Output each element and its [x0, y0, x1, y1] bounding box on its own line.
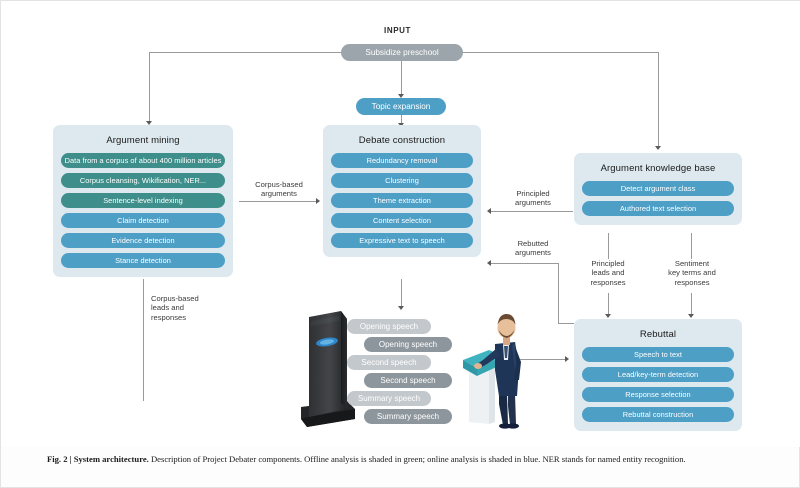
panel-argument-mining: Argument mining Data from a corpus of ab…	[53, 125, 233, 277]
edge-label-corpus-based-arguments: Corpus-based arguments	[239, 180, 319, 199]
arrow-corpus-arguments	[316, 198, 320, 204]
edge-line-2: arguments	[493, 248, 573, 257]
speech-chip-human-second: Second speech	[364, 373, 452, 388]
edge-line-3: responses	[568, 278, 648, 287]
edge-line-1: Rebutted	[493, 239, 573, 248]
arrow-principled-leads	[605, 314, 611, 318]
arrow-to-knowledge-base	[655, 146, 661, 150]
sentiment-terms-line-top	[691, 233, 692, 259]
human-debater-at-lectern	[463, 306, 533, 431]
edge-line-2: key terms and	[651, 268, 733, 277]
system-architecture-diagram: INPUT Subsidize preschool Topic expansio…	[1, 1, 800, 447]
chip-corpus-cleansing: Corpus cleansing, Wikification, NER...	[61, 173, 225, 188]
principled-leads-line-bottom	[608, 293, 609, 315]
chip-sentence-level-indexing: Sentence-level indexing	[61, 193, 225, 208]
chip-response-selection: Response selection	[582, 387, 734, 402]
edge-label-rebutted-arguments: Rebutted arguments	[493, 239, 573, 258]
edge-line-1: Sentiment	[651, 259, 733, 268]
input-label: INPUT	[384, 26, 411, 35]
arrow-rebutted-arguments	[487, 260, 491, 266]
rebutted-arguments-stub	[558, 323, 574, 324]
topic-right-drop	[658, 52, 659, 147]
edge-line-2: leads and	[568, 268, 648, 277]
arrow-sentiment-terms	[688, 314, 694, 318]
chip-expressive-text-to-speech: Expressive text to speech	[331, 233, 473, 248]
topic-box: Subsidize preschool	[341, 44, 463, 61]
chip-rebuttal-construction: Rebuttal construction	[582, 407, 734, 422]
chip-clustering: Clustering	[331, 173, 473, 188]
edge-label-principled-leads-responses: Principled leads and responses	[568, 259, 648, 287]
chip-content-selection: Content selection	[331, 213, 473, 228]
speech-chip-machine-second: Second speech	[347, 355, 431, 370]
edge-line-3: responses	[151, 313, 233, 322]
panel-rebuttal: Rebuttal Speech to text Lead/key-term de…	[574, 319, 742, 431]
caption-figure-number: Fig. 2 |	[47, 454, 74, 464]
panel-title-argument-mining: Argument mining	[61, 135, 225, 146]
chip-theme-extraction: Theme extraction	[331, 193, 473, 208]
topic-right-bus	[463, 52, 659, 53]
chip-evidence-detection: Evidence detection	[61, 233, 225, 248]
panel-title-argument-knowledge-base: Argument knowledge base	[582, 163, 734, 174]
edge-line-1: Corpus-based	[239, 180, 319, 189]
topic-to-expansion-line	[401, 61, 402, 95]
arrow-human-to-rebuttal	[565, 356, 569, 362]
edge-line-3: responses	[651, 278, 733, 287]
principled-arguments-line	[491, 211, 573, 212]
chip-lead-key-term-detection: Lead/key-term detection	[582, 367, 734, 382]
rebutted-arguments-line	[491, 263, 559, 264]
topic-left-bus	[149, 52, 341, 53]
topic-expansion-box: Topic expansion	[356, 98, 446, 115]
chip-claim-detection: Claim detection	[61, 213, 225, 228]
edge-line-1: Principled	[493, 189, 573, 198]
chip-stance-detection: Stance detection	[61, 253, 225, 268]
speech-chip-machine-opening: Opening speech	[347, 319, 431, 334]
debate-to-speech-line	[401, 279, 402, 307]
edge-line-1: Principled	[568, 259, 648, 268]
panel-title-rebuttal: Rebuttal	[582, 329, 734, 340]
edge-label-corpus-based-leads-responses: Corpus-based leads and responses	[151, 294, 233, 322]
edge-label-principled-arguments: Principled arguments	[493, 189, 573, 208]
arrow-to-speeches	[398, 306, 404, 310]
corpus-leads-line	[143, 279, 144, 401]
panel-argument-knowledge-base: Argument knowledge base Detect argument …	[574, 153, 742, 225]
figure-caption: Fig. 2 | System architecture. Descriptio…	[47, 453, 763, 465]
chip-speech-to-text: Speech to text	[582, 347, 734, 362]
edge-line-1: Corpus-based	[151, 294, 233, 303]
principled-leads-line-top	[608, 233, 609, 259]
caption-body: Description of Project Debater component…	[149, 454, 686, 464]
caption-title: System architecture.	[74, 454, 149, 464]
speech-chip-human-opening: Opening speech	[364, 337, 452, 352]
edge-line-2: leads and	[151, 303, 233, 312]
sentiment-terms-line-bottom	[691, 293, 692, 315]
chip-redundancy-removal: Redundancy removal	[331, 153, 473, 168]
speech-chip-machine-summary: Summary speech	[347, 391, 431, 406]
chip-authored-text-selection: Authored text selection	[582, 201, 734, 216]
edge-line-2: arguments	[493, 198, 573, 207]
chip-data-corpus: Data from a corpus of about 400 million …	[61, 153, 225, 168]
rebutted-arguments-riser	[558, 263, 559, 323]
figure-page: INPUT Subsidize preschool Topic expansio…	[0, 0, 800, 488]
chip-detect-argument-class: Detect argument class	[582, 181, 734, 196]
edge-line-2: arguments	[239, 189, 319, 198]
speech-chip-human-summary: Summary speech	[364, 409, 452, 424]
arrow-principled-arguments	[487, 208, 491, 214]
corpus-arguments-line	[239, 201, 317, 202]
panel-title-debate-construction: Debate construction	[331, 135, 473, 146]
topic-left-drop	[149, 52, 150, 122]
edge-label-sentiment-key-terms-responses: Sentiment key terms and responses	[651, 259, 733, 287]
panel-debate-construction: Debate construction Redundancy removal C…	[323, 125, 481, 257]
